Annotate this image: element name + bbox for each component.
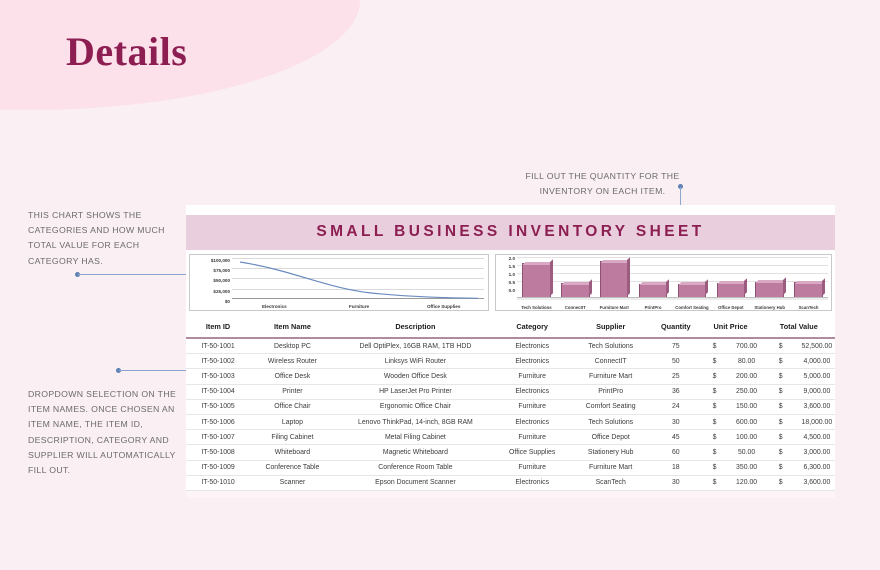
- bar-x-tick: Stationery Hub: [750, 305, 789, 310]
- cell-supplier[interactable]: Comfort Seating: [568, 399, 653, 414]
- cell-total-currency[interactable]: $: [763, 399, 799, 414]
- cell-category[interactable]: Electronics: [496, 475, 568, 490]
- cell-supplier[interactable]: Tech Solutions: [568, 414, 653, 429]
- bar-x-tick: Comfort Seating: [673, 305, 712, 310]
- table-row[interactable]: IT-50-1001Desktop PCDell OptiPlex, 16GB …: [186, 338, 835, 354]
- cell-unit-price[interactable]: 120.00: [731, 475, 763, 490]
- cell-supplier[interactable]: ScanTech: [568, 475, 653, 490]
- line-x-tick: Office Supplies: [401, 304, 486, 309]
- bar-x-tick: Office Depot: [711, 305, 750, 310]
- cell-category[interactable]: Furniture: [496, 369, 568, 384]
- cell-item-name[interactable]: Scanner: [250, 475, 335, 490]
- cell-unit-currency[interactable]: $: [699, 475, 731, 490]
- bar-wrap: [600, 257, 629, 299]
- cell-description[interactable]: Magnetic Whiteboard: [335, 445, 496, 460]
- column-header-category[interactable]: Category: [496, 315, 568, 338]
- cell-unit-price[interactable]: 350.00: [731, 460, 763, 475]
- cell-item-id[interactable]: IT-50-1009: [186, 460, 250, 475]
- cell-category[interactable]: Electronics: [496, 338, 568, 354]
- cell-quantity[interactable]: 75: [653, 338, 698, 354]
- inventory-table-body: IT-50-1001Desktop PCDell OptiPlex, 16GB …: [186, 338, 835, 490]
- cell-total-value[interactable]: 6,300.00: [799, 460, 835, 475]
- bar-x-tick: Tech Solutions: [517, 305, 556, 310]
- cell-unit-price[interactable]: 700.00: [731, 338, 763, 354]
- cell-quantity[interactable]: 24: [653, 399, 698, 414]
- cell-supplier[interactable]: Furniture Mart: [568, 369, 653, 384]
- table-row[interactable]: IT-50-1007Filing CabinetMetal Filing Cab…: [186, 430, 835, 445]
- cell-total-currency[interactable]: $: [763, 414, 799, 429]
- column-header-description[interactable]: Description: [335, 315, 496, 338]
- cell-item-id[interactable]: IT-50-1010: [186, 475, 250, 490]
- table-row[interactable]: IT-50-1006LaptopLenovo ThinkPad, 14-inch…: [186, 414, 835, 429]
- line-y-tick: $75,000: [192, 267, 230, 277]
- cell-category[interactable]: Electronics: [496, 384, 568, 399]
- cell-total-value[interactable]: 9,000.00: [799, 384, 835, 399]
- table-row[interactable]: IT-50-1005Office ChairErgonomic Office C…: [186, 399, 835, 414]
- cell-total-currency[interactable]: $: [763, 460, 799, 475]
- bar-x-tick: PrintPro: [634, 305, 673, 310]
- cell-total-currency[interactable]: $: [763, 430, 799, 445]
- cell-quantity[interactable]: 30: [653, 475, 698, 490]
- cell-quantity[interactable]: 60: [653, 445, 698, 460]
- bar-wrap: [561, 257, 590, 299]
- cell-item-name[interactable]: Office Desk: [250, 369, 335, 384]
- bar-tech-solutions: [522, 263, 551, 299]
- cell-item-name[interactable]: Filing Cabinet: [250, 430, 335, 445]
- bar-chart-floor: [517, 297, 828, 301]
- cell-category[interactable]: Furniture: [496, 430, 568, 445]
- cell-unit-currency[interactable]: $: [699, 338, 731, 354]
- cell-description[interactable]: Dell OptiPlex, 16GB RAM, 1TB HDD: [335, 338, 496, 354]
- cell-item-id[interactable]: IT-50-1008: [186, 445, 250, 460]
- inventory-table: Item ID Item Name Description Category S…: [186, 315, 835, 491]
- bar-wrap: [522, 257, 551, 299]
- cell-total-currency[interactable]: $: [763, 338, 799, 354]
- bar-wrap: [639, 257, 668, 299]
- cell-description[interactable]: Linksys WiFi Router: [335, 354, 496, 369]
- line-x-tick: Electronics: [232, 304, 317, 309]
- column-header-item-name[interactable]: Item Name: [250, 315, 335, 338]
- cell-total-value[interactable]: 5,000.00: [799, 369, 835, 384]
- bar-wrap: [755, 257, 784, 299]
- cell-supplier[interactable]: Tech Solutions: [568, 338, 653, 354]
- cell-unit-currency[interactable]: $: [699, 430, 731, 445]
- cell-item-name[interactable]: Printer: [250, 384, 335, 399]
- column-header-item-id[interactable]: Item ID: [186, 315, 250, 338]
- bar-wrap: [717, 257, 746, 299]
- bar-y-tick: 2.0: [497, 256, 515, 264]
- cell-quantity[interactable]: 45: [653, 430, 698, 445]
- bar-chart-y-axis: 2.0 1.5 1.0 0.5 0.0: [497, 256, 515, 296]
- cell-item-id[interactable]: IT-50-1001: [186, 338, 250, 354]
- line-chart-y-axis: $100,000 $75,000 $50,000 $25,000 $0: [192, 257, 230, 308]
- cell-quantity[interactable]: 30: [653, 414, 698, 429]
- cell-description[interactable]: HP LaserJet Pro Printer: [335, 384, 496, 399]
- column-header-total-value[interactable]: Total Value: [763, 315, 835, 338]
- cell-category[interactable]: Furniture: [496, 460, 568, 475]
- page-title: Details: [66, 28, 187, 75]
- bar-wrap: [794, 257, 823, 299]
- annotation-dropdown-note: DROPDOWN SELECTION ON THE ITEM NAMES. ON…: [28, 387, 193, 478]
- cell-unit-currency[interactable]: $: [699, 399, 731, 414]
- cell-item-name[interactable]: Office Chair: [250, 399, 335, 414]
- cell-unit-price[interactable]: 250.00: [731, 384, 763, 399]
- cell-item-name[interactable]: Whiteboard: [250, 445, 335, 460]
- table-header-row: Item ID Item Name Description Category S…: [186, 315, 835, 338]
- cell-quantity[interactable]: 50: [653, 354, 698, 369]
- bar-furniture-mart: [600, 261, 629, 299]
- cell-category[interactable]: Electronics: [496, 354, 568, 369]
- cell-description[interactable]: Ergonomic Office Chair: [335, 399, 496, 414]
- sheet-title: SMALL BUSINESS INVENTORY SHEET: [186, 215, 835, 250]
- cell-category[interactable]: Furniture: [496, 399, 568, 414]
- cell-unit-price[interactable]: 200.00: [731, 369, 763, 384]
- cell-item-name[interactable]: Laptop: [250, 414, 335, 429]
- cell-total-value[interactable]: 52,500.00: [799, 338, 835, 354]
- cell-item-name[interactable]: Wireless Router: [250, 354, 335, 369]
- bar-x-tick: ConnectIT: [556, 305, 595, 310]
- cell-unit-price[interactable]: 80.00: [731, 354, 763, 369]
- sheet-top-strip: [186, 205, 835, 215]
- table-row[interactable]: IT-50-1003Office DeskWooden Office DeskF…: [186, 369, 835, 384]
- cell-total-value[interactable]: 4,000.00: [799, 354, 835, 369]
- line-chart-x-axis: Electronics Furniture Office Supplies: [232, 304, 486, 309]
- cell-supplier[interactable]: Office Depot: [568, 430, 653, 445]
- cell-item-id[interactable]: IT-50-1007: [186, 430, 250, 445]
- cell-unit-currency[interactable]: $: [699, 414, 731, 429]
- bar-y-tick: 1.0: [497, 272, 515, 280]
- column-header-unit-price[interactable]: Unit Price: [699, 315, 763, 338]
- column-header-supplier[interactable]: Supplier: [568, 315, 653, 338]
- cell-total-currency[interactable]: $: [763, 384, 799, 399]
- charts-row: $100,000 $75,000 $50,000 $25,000 $0 Elec…: [186, 250, 835, 315]
- cell-item-name[interactable]: Conference Table: [250, 460, 335, 475]
- cell-item-id[interactable]: IT-50-1004: [186, 384, 250, 399]
- cell-description[interactable]: Lenovo ThinkPad, 14-inch, 8GB RAM: [335, 414, 496, 429]
- table-row[interactable]: IT-50-1002Wireless RouterLinksys WiFi Ro…: [186, 354, 835, 369]
- cell-total-currency[interactable]: $: [763, 445, 799, 460]
- cell-unit-price[interactable]: 50.00: [731, 445, 763, 460]
- line-y-tick: $0: [192, 298, 230, 308]
- line-chart-plot-area: [232, 258, 484, 299]
- bar-x-tick: ScanTech: [789, 305, 828, 310]
- cell-supplier[interactable]: PrintPro: [568, 384, 653, 399]
- cell-total-value[interactable]: 3,600.00: [799, 475, 835, 490]
- cell-item-id[interactable]: IT-50-1003: [186, 369, 250, 384]
- column-header-quantity[interactable]: Quantity: [653, 315, 698, 338]
- cell-unit-price[interactable]: 600.00: [731, 414, 763, 429]
- cell-unit-currency[interactable]: $: [699, 445, 731, 460]
- bar-y-tick: 1.5: [497, 264, 515, 272]
- cell-total-currency[interactable]: $: [763, 369, 799, 384]
- cell-total-value[interactable]: 3,600.00: [799, 399, 835, 414]
- cell-item-id[interactable]: IT-50-1005: [186, 399, 250, 414]
- line-y-tick: $100,000: [192, 257, 230, 267]
- cell-unit-currency[interactable]: $: [699, 384, 731, 399]
- cell-quantity[interactable]: 36: [653, 384, 698, 399]
- cell-total-currency[interactable]: $: [763, 354, 799, 369]
- cell-item-id[interactable]: IT-50-1002: [186, 354, 250, 369]
- bar-chart-x-axis: Tech SolutionsConnectITFurniture MartPri…: [517, 305, 828, 310]
- line-x-tick: Furniture: [317, 304, 402, 309]
- table-row[interactable]: IT-50-1008WhiteboardMagnetic WhiteboardO…: [186, 445, 835, 460]
- table-row[interactable]: IT-50-1009Conference TableConference Roo…: [186, 460, 835, 475]
- cell-supplier[interactable]: Stationery Hub: [568, 445, 653, 460]
- cell-quantity[interactable]: 25: [653, 369, 698, 384]
- cell-unit-price[interactable]: 100.00: [731, 430, 763, 445]
- cell-total-value[interactable]: 4,500.00: [799, 430, 835, 445]
- cell-unit-currency[interactable]: $: [699, 369, 731, 384]
- category-value-line-chart[interactable]: $100,000 $75,000 $50,000 $25,000 $0 Elec…: [189, 254, 489, 311]
- cell-supplier[interactable]: Furniture Mart: [568, 460, 653, 475]
- cell-unit-price[interactable]: 150.00: [731, 399, 763, 414]
- bar-wrap: [678, 257, 707, 299]
- annotation-quantity-note: FILL OUT THE QUANTITY FOR THE INVENTORY …: [515, 169, 690, 199]
- cell-total-value[interactable]: 3,000.00: [799, 445, 835, 460]
- bar-y-tick: 0.5: [497, 280, 515, 288]
- cell-category[interactable]: Electronics: [496, 414, 568, 429]
- bar-y-tick: 0.0: [497, 288, 515, 296]
- line-y-tick: $50,000: [192, 277, 230, 287]
- cell-category[interactable]: Office Supplies: [496, 445, 568, 460]
- cell-item-name[interactable]: Desktop PC: [250, 338, 335, 354]
- cell-unit-currency[interactable]: $: [699, 460, 731, 475]
- cell-description[interactable]: Conference Room Table: [335, 460, 496, 475]
- line-chart-series: [232, 258, 484, 299]
- cell-quantity[interactable]: 18: [653, 460, 698, 475]
- table-row[interactable]: IT-50-1010ScannerEpson Document ScannerE…: [186, 475, 835, 490]
- bar-x-tick: Furniture Mart: [595, 305, 634, 310]
- supplier-bar-chart[interactable]: 2.0 1.5 1.0 0.5 0.0 Tech SolutionsConnec…: [495, 254, 832, 311]
- annotation-chart-note: THIS CHART SHOWS THE CATEGORIES AND HOW …: [28, 208, 188, 269]
- inventory-sheet-panel: SMALL BUSINESS INVENTORY SHEET $100,000 …: [186, 205, 835, 498]
- cell-description[interactable]: Epson Document Scanner: [335, 475, 496, 490]
- line-y-tick: $25,000: [192, 288, 230, 298]
- sheet-bottom-strip: [186, 491, 835, 498]
- cell-item-id[interactable]: IT-50-1006: [186, 414, 250, 429]
- cell-unit-currency[interactable]: $: [699, 354, 731, 369]
- cell-total-value[interactable]: 18,000.00: [799, 414, 835, 429]
- cell-description[interactable]: Metal Filing Cabinet: [335, 430, 496, 445]
- cell-description[interactable]: Wooden Office Desk: [335, 369, 496, 384]
- table-row[interactable]: IT-50-1004PrinterHP LaserJet Pro Printer…: [186, 384, 835, 399]
- cell-supplier[interactable]: ConnectIT: [568, 354, 653, 369]
- bar-chart-plot-area: [517, 257, 828, 299]
- cell-total-currency[interactable]: $: [763, 475, 799, 490]
